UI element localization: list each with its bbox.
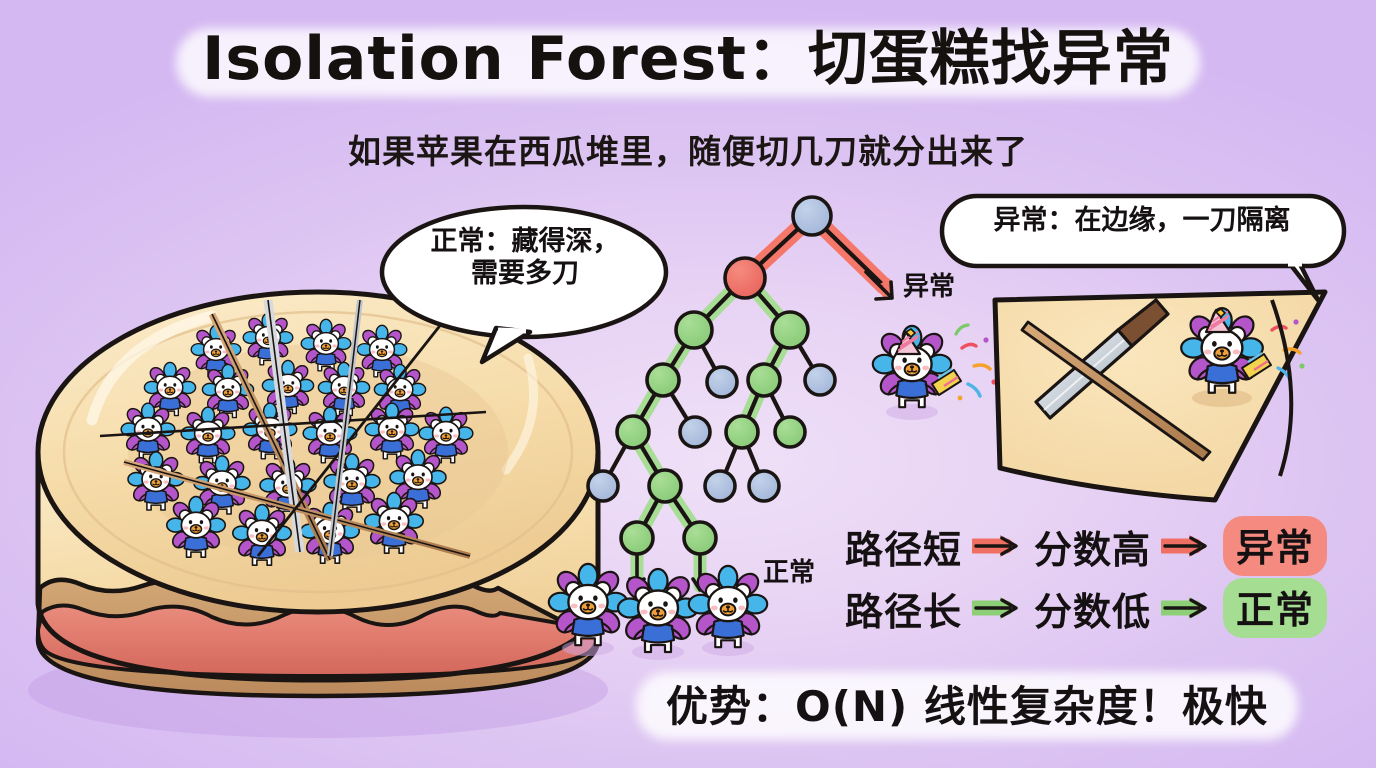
advantage-banner: 优势：O(N) 线性复杂度！极快 [636,668,1298,744]
arrow-right-icon [972,593,1024,623]
formula-short-path: 路径短 分数高 异常 [845,516,1327,576]
anomaly-bear [873,325,997,420]
tree-node-split [725,258,765,298]
formula-2-result: 正常 [1223,578,1327,638]
normal-label: 正常 [763,552,815,589]
arrow-right-icon [1161,531,1213,561]
advantage-banner-text: 优势：O(N) 线性复杂度！极快 [666,682,1268,731]
page-title: Isolation Forest：切蛋糕找异常 [0,22,1376,101]
normal-bears [549,564,767,660]
page-title-text: Isolation Forest：切蛋糕找异常 [202,24,1174,94]
anomaly-label: 异常 [903,266,955,303]
formula-long-path: 路径长 分数低 正常 [845,578,1327,638]
cake-illustration [28,292,608,738]
formula-1-result: 异常 [1223,516,1327,576]
bubble-left-line1: 正常：藏得深， [392,226,658,258]
cake-slice-panel [995,292,1325,500]
arrow-right-icon [972,531,1024,561]
poster-canvas: Isolation Forest：切蛋糕找异常 如果苹果在西瓜堆里，随便切几刀就… [0,0,1376,768]
formula-1-left: 路径短 [845,519,962,574]
formula-1-middle: 分数高 [1034,519,1151,574]
speech-bubble-right-text: 异常：在边缘，一刀隔离 [948,205,1336,237]
speech-bubble-left-text: 正常：藏得深， 需要多刀 [392,226,658,290]
tree-node-root [793,197,831,235]
bubble-left-line2: 需要多刀 [392,258,658,290]
arrow-right-icon [1161,593,1213,623]
page-subtitle: 如果苹果在西瓜堆里，随便切几刀就分出来了 [0,125,1376,173]
illustration-layer [0,0,1376,768]
formula-2-left: 路径长 [845,581,962,636]
formula-2-middle: 分数低 [1034,581,1151,636]
